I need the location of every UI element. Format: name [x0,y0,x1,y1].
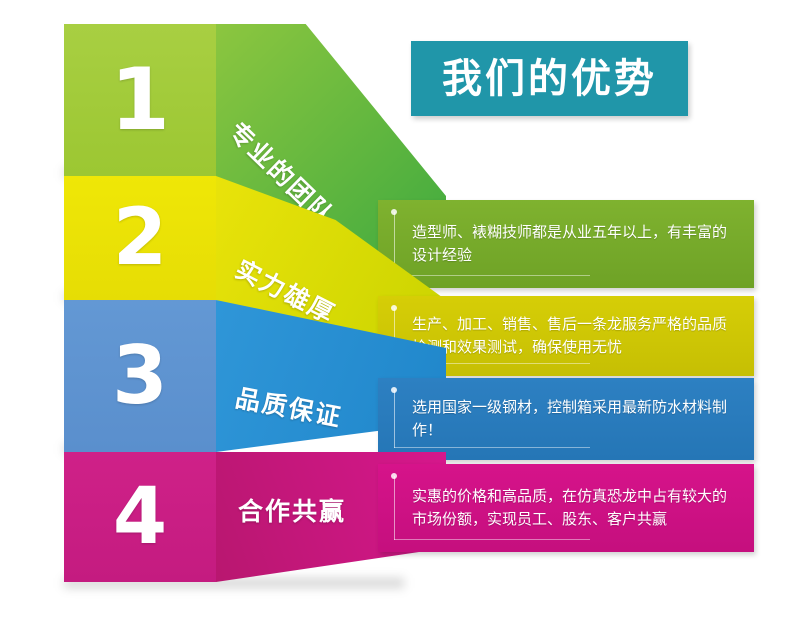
infographic-canvas: 我们的优势 1 专业的团队 造型师、裱糊技师都是从业五年以上，有丰富的设计经验 … [0,0,800,622]
page-title: 我们的优势 [442,59,657,99]
row-1-number: 1 [110,57,170,143]
row-2-body-text: 生产、加工、销售、售后一条龙服务严格的品质检测和效果测试，确保使用无忧 [412,313,730,360]
row-3-bracket-line [394,390,395,448]
row-3-body-text: 选用国家一级钢材，控制箱采用最新防水材料制作！ [412,396,730,443]
row-4-bracket-line [394,476,395,540]
row-3-panel: 选用国家一级钢材，控制箱采用最新防水材料制作！ [378,378,754,460]
row-3-number: 3 [112,336,168,416]
row-2-number: 2 [113,199,167,277]
row-3-number-box: 3 [64,300,216,452]
row-4-number-box: 4 [64,452,216,582]
row-3-label: 品质保证 [233,378,346,434]
row-4-number: 4 [113,478,167,556]
row-4-panel: 实惠的价格和高品质，在仿真恐龙中占有较大的市场份额，实现员工、股东、客户共赢 [378,464,754,552]
row-2-number-box: 2 [64,176,216,300]
row-1-panel: 造型师、裱糊技师都是从业五年以上，有丰富的设计经验 [378,200,754,288]
title-banner: 我们的优势 [411,41,688,116]
row-1-number-box: 1 [64,24,216,176]
row-4-body-text: 实惠的价格和高品质，在仿真恐龙中占有较大的市场份额，实现员工、股东、客户共赢 [412,485,730,532]
row-1-body-text: 造型师、裱糊技师都是从业五年以上，有丰富的设计经验 [412,221,730,268]
row-4-label: 合作共赢 [238,492,346,528]
